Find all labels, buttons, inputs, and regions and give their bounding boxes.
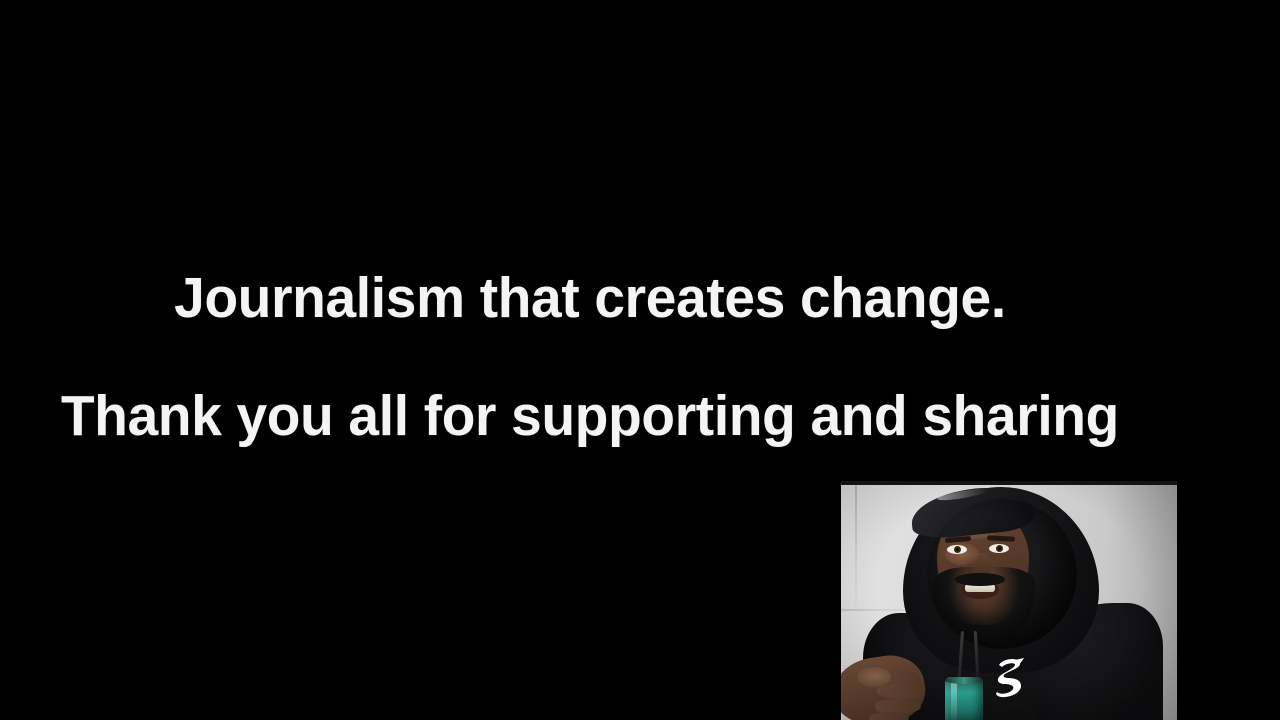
wall-seam (855, 485, 857, 617)
glass-highlight (951, 681, 957, 720)
glass-rim (945, 677, 983, 684)
video-frame: Journalism that creates change. Thank yo… (0, 0, 1280, 720)
hood-inner-shadow (927, 499, 1077, 649)
chest-logo-icon (993, 656, 1027, 700)
caption-block: Journalism that creates change. Thank yo… (0, 268, 1180, 446)
caption-line-2: Thank you all for supporting and sharing (21, 386, 1160, 446)
letterbox-bar (841, 481, 1177, 485)
caption-line-1: Journalism that creates change. (21, 268, 1160, 328)
speaker-webcam-inset[interactable] (841, 481, 1177, 720)
knuckle-highlight (857, 667, 891, 687)
